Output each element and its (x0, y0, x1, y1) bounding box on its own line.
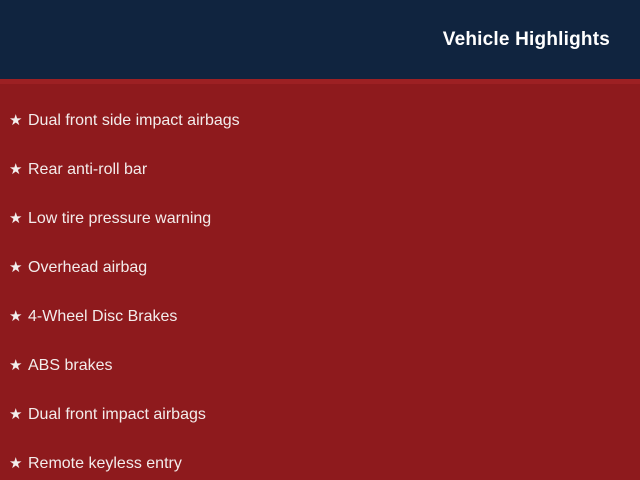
highlights-panel: ★ Dual front side impact airbags ★ Rear … (0, 84, 640, 480)
star-icon: ★ (9, 456, 28, 471)
list-item: ★ 4-Wheel Disc Brakes (0, 292, 640, 341)
star-icon: ★ (9, 162, 28, 177)
star-icon: ★ (9, 358, 28, 373)
star-icon: ★ (9, 211, 28, 226)
star-icon: ★ (9, 407, 28, 422)
list-item: ★ Low tire pressure warning (0, 194, 640, 243)
list-item: ★ Dual front impact airbags (0, 390, 640, 439)
list-item-label: Remote keyless entry (28, 456, 182, 472)
list-item: ★ ABS brakes (0, 341, 640, 390)
list-item-label: Low tire pressure warning (28, 211, 211, 227)
page-header: Vehicle Highlights (0, 0, 640, 79)
list-item: ★ Overhead airbag (0, 243, 640, 292)
list-item-label: ABS brakes (28, 358, 112, 374)
star-icon: ★ (9, 260, 28, 275)
star-icon: ★ (9, 113, 28, 128)
list-item-label: Dual front impact airbags (28, 407, 206, 423)
list-item-label: Dual front side impact airbags (28, 113, 240, 129)
list-item-label: 4-Wheel Disc Brakes (28, 309, 177, 325)
star-icon: ★ (9, 309, 28, 324)
list-item: ★ Dual front side impact airbags (0, 96, 640, 145)
page-title: Vehicle Highlights (443, 30, 610, 49)
vehicle-highlights-page: Vehicle Highlights ★ Dual front side imp… (0, 0, 640, 480)
list-item: ★ Rear anti-roll bar (0, 145, 640, 194)
list-item-label: Overhead airbag (28, 260, 147, 276)
list-item: ★ Remote keyless entry (0, 439, 640, 480)
list-item-label: Rear anti-roll bar (28, 162, 147, 178)
highlights-list: ★ Dual front side impact airbags ★ Rear … (0, 96, 640, 480)
